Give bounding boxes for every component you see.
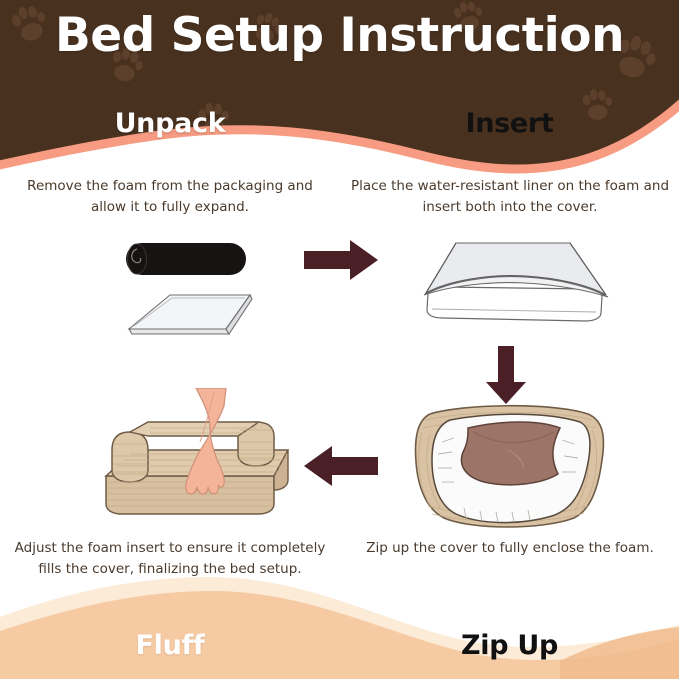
- illustration-insert: [420, 233, 615, 348]
- arrow-left-icon: [302, 444, 380, 488]
- caption-zip: Zip up the cover to fully enclose the fo…: [350, 538, 670, 559]
- illustration-fluff: [92, 388, 314, 530]
- step-label-unpack: Unpack: [0, 108, 340, 139]
- bed-with-cushion-icon: [416, 406, 604, 527]
- caption-unpack: Remove the foam from the packaging and a…: [10, 176, 330, 218]
- footer-wave-graphic: [0, 569, 679, 679]
- foam-cushion-icon: [424, 243, 608, 321]
- footer-banner: [0, 569, 679, 679]
- step-label-fluff: Fluff: [0, 630, 340, 661]
- liner-sheet-icon: [129, 295, 252, 334]
- page-title: Bed Setup Instruction: [0, 8, 679, 63]
- header-banner: Bed Setup Instruction: [0, 0, 679, 175]
- step-label-insert: Insert: [340, 108, 679, 139]
- step-label-zip: Zip Up: [340, 630, 679, 661]
- caption-insert: Place the water-resistant liner on the f…: [350, 176, 670, 218]
- arrow-right-icon: [302, 238, 380, 282]
- illustration-unpack: [110, 232, 290, 347]
- rolled-foam-icon: [126, 243, 246, 275]
- illustration-zip: [402, 398, 622, 533]
- arrow-down-icon: [484, 344, 528, 406]
- bolster-bed-with-hand-icon: [106, 388, 288, 514]
- instruction-infographic: Bed Setup Instruction Unpack Insert Remo…: [0, 0, 679, 679]
- hand-icon: [186, 388, 226, 494]
